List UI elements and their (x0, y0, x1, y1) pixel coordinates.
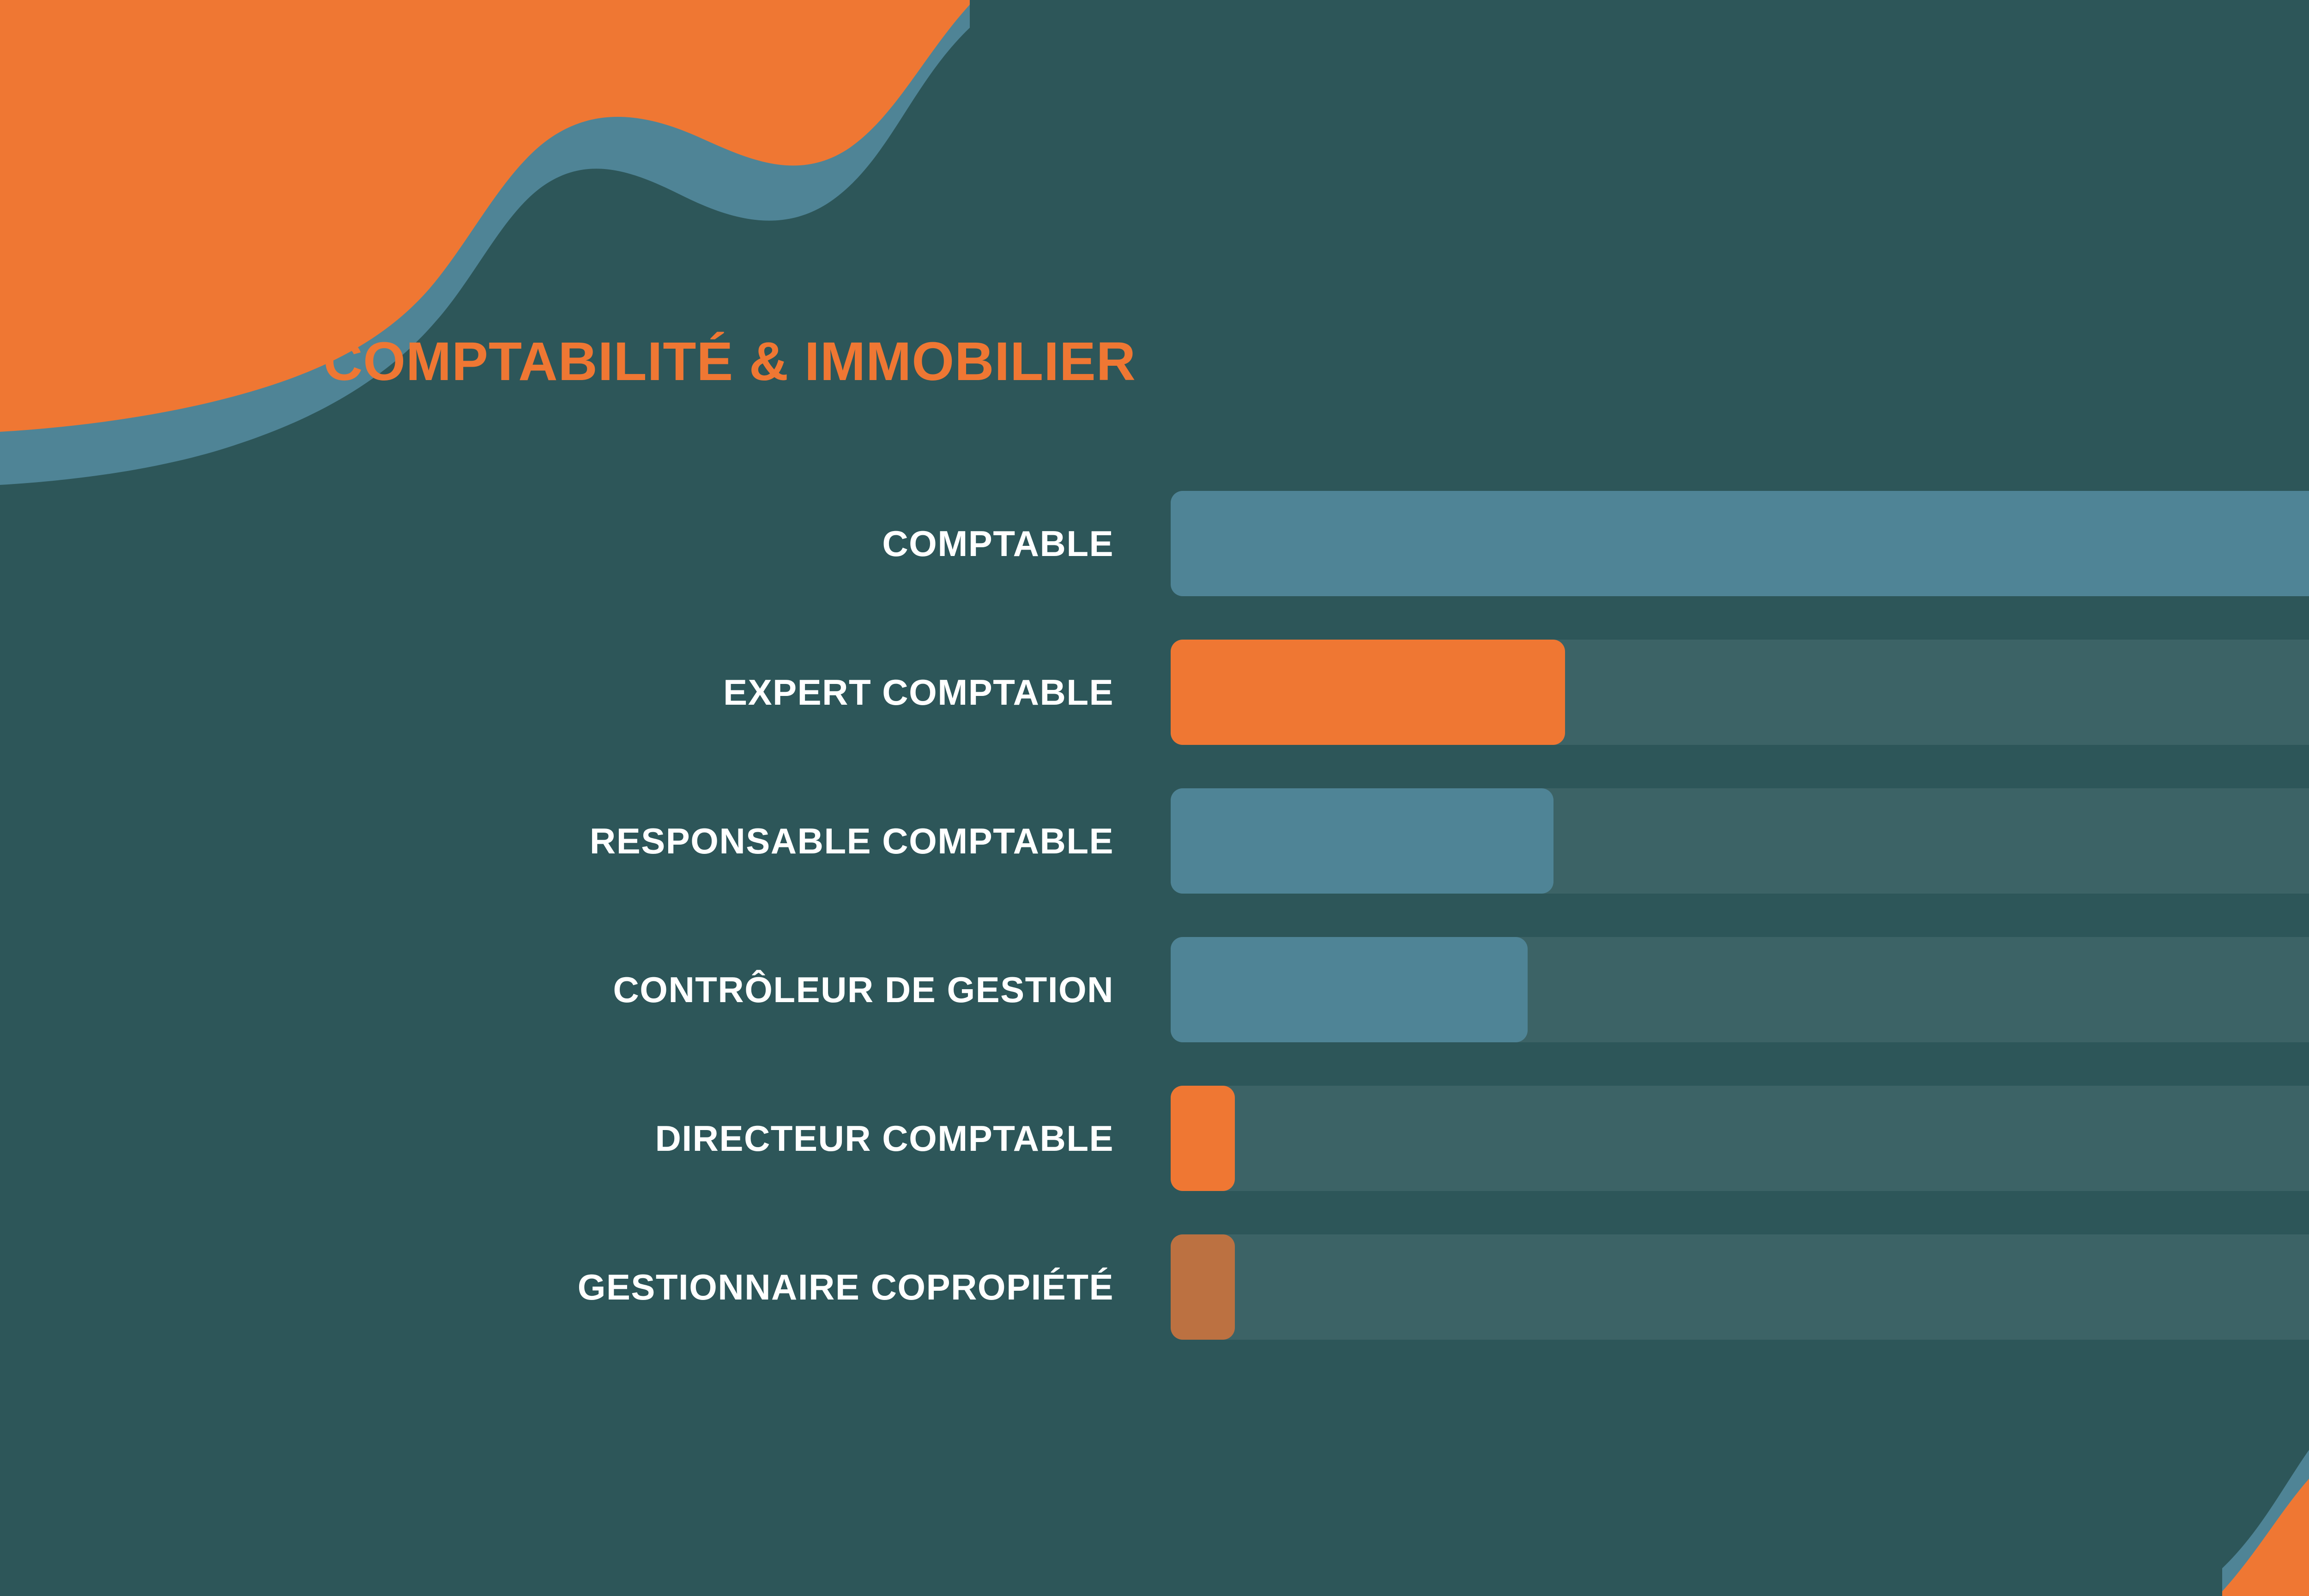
bar-track (1171, 491, 2309, 596)
bar-track (1171, 1086, 2309, 1191)
table-row: DIRECTEUR COMPTABLE 820 +8 % (0, 1086, 2309, 1191)
table-row: RESPONSABLE COMPTABLE 5 420 -14 % (0, 788, 2309, 894)
bar-fill (1171, 640, 1565, 745)
bar-track (1171, 937, 2309, 1042)
table-row: COMPTABLE 17 800 -13 % (0, 491, 2309, 596)
bar-fill (1171, 1086, 1235, 1191)
row-label-controleur-de-gestion: CONTRÔLEUR DE GESTION (139, 937, 1114, 1042)
chart-canvas: COMPTABILITÉ & IMMOBILIER COMPTABLE 17 8… (0, 0, 2309, 1596)
bar-fill (1171, 1234, 1235, 1340)
table-row: GESTIONNAIRE COPROPIÉTÉ 870 +5 % (0, 1234, 2309, 1340)
row-label-responsable-comptable: RESPONSABLE COMPTABLE (139, 788, 1114, 894)
row-label-directeur-comptable: DIRECTEUR COMPTABLE (139, 1086, 1114, 1191)
bar-fill (1171, 788, 1553, 894)
row-label-gestionnaire-copropriete: GESTIONNAIRE COPROPIÉTÉ (139, 1234, 1114, 1340)
bar-track (1171, 788, 2309, 894)
bar-chart-rows: COMPTABLE 17 800 -13 % EXPERT COMPTABLE … (0, 491, 2309, 1340)
row-label-expert-comptable: EXPERT COMPTABLE (139, 640, 1114, 745)
page-title: COMPTABILITÉ & IMMOBILIER (323, 330, 1136, 393)
bar-track (1171, 1234, 2309, 1340)
row-label-comptable: COMPTABLE (139, 491, 1114, 596)
table-row: CONTRÔLEUR DE GESTION 5 030 -26 % (0, 937, 2309, 1042)
bar-fill (1171, 491, 2309, 596)
wave-blob-top-left-icon (0, 0, 970, 485)
table-row: EXPERT COMPTABLE 5 600 +7 % (0, 640, 2309, 745)
bar-track (1171, 640, 2309, 745)
bar-fill (1171, 937, 1528, 1042)
